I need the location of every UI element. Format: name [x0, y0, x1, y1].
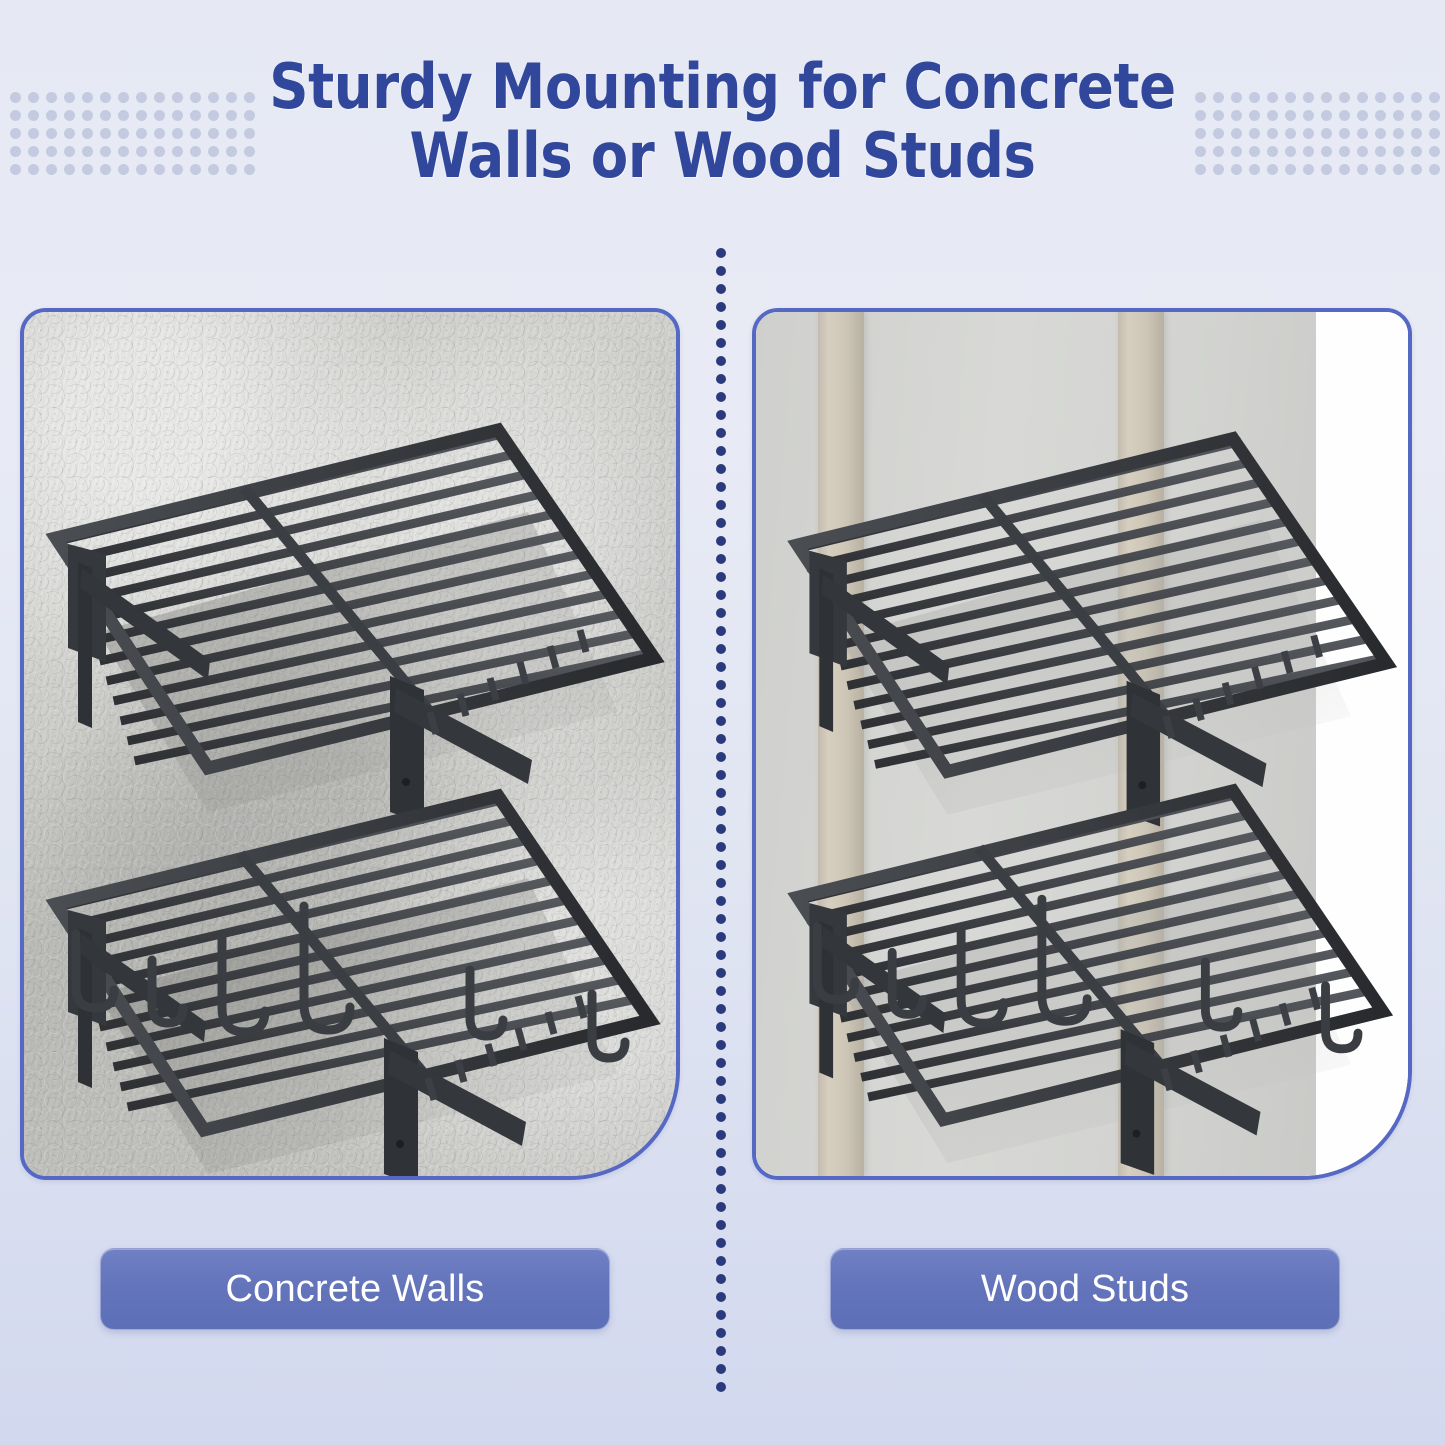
- divider-dot: [716, 878, 726, 888]
- divider-dot: [716, 1040, 726, 1050]
- dot: [64, 164, 75, 175]
- divider-dot: [716, 806, 726, 816]
- label-wood-studs-text: Wood Studs: [981, 1268, 1189, 1311]
- divider-dot: [716, 734, 726, 744]
- divider-dot: [716, 482, 726, 492]
- divider-dot: [716, 1382, 726, 1392]
- divider-dot: [716, 626, 726, 636]
- dot: [1375, 92, 1386, 103]
- divider-dot: [716, 446, 726, 456]
- divider-dot: [716, 716, 726, 726]
- dot: [28, 92, 39, 103]
- dot: [1393, 128, 1404, 139]
- dot: [10, 110, 21, 121]
- divider-dot: [716, 932, 726, 942]
- divider-dot: [716, 770, 726, 780]
- dot: [1375, 110, 1386, 121]
- dot: [10, 164, 21, 175]
- divider-dot: [716, 284, 726, 294]
- dot: [1429, 128, 1440, 139]
- divider-dot: [716, 824, 726, 834]
- divider-dot: [716, 896, 726, 906]
- divider-dot: [716, 302, 726, 312]
- dot: [46, 110, 57, 121]
- dot: [1393, 92, 1404, 103]
- dot: [1411, 110, 1422, 121]
- dot: [1375, 128, 1386, 139]
- divider-dot: [716, 266, 726, 276]
- page-title: Sturdy Mounting for Concrete Walls or Wo…: [87, 52, 1359, 191]
- divider-dot: [716, 320, 726, 330]
- divider-dot: [716, 788, 726, 798]
- divider-dot: [716, 1274, 726, 1284]
- divider-dot: [716, 1310, 726, 1320]
- divider-dot: [716, 986, 726, 996]
- dot: [10, 146, 21, 157]
- dot: [46, 164, 57, 175]
- dot: [1411, 92, 1422, 103]
- dot: [64, 128, 75, 139]
- dot: [10, 92, 21, 103]
- divider-dot: [716, 1328, 726, 1338]
- dot: [1375, 146, 1386, 157]
- divider-dot: [716, 590, 726, 600]
- divider-dot: [716, 662, 726, 672]
- dot: [28, 128, 39, 139]
- dot: [10, 128, 21, 139]
- divider-dot: [716, 1112, 726, 1122]
- dot: [1375, 164, 1386, 175]
- divider-dot: [716, 572, 726, 582]
- dot: [1411, 164, 1422, 175]
- divider-dot: [716, 464, 726, 474]
- divider-dot: [716, 968, 726, 978]
- divider-dot: [716, 248, 726, 258]
- dot: [1429, 164, 1440, 175]
- divider-dot: [716, 1004, 726, 1014]
- dot: [64, 146, 75, 157]
- page-title-line-2: Walls or Wood Studs: [87, 121, 1359, 190]
- dot: [1411, 146, 1422, 157]
- divider-dot: [716, 698, 726, 708]
- panel-wood-studs: [752, 308, 1412, 1180]
- divider-dot: [716, 950, 726, 960]
- divider-dot: [716, 1148, 726, 1158]
- dot: [28, 146, 39, 157]
- divider-dot: [716, 1022, 726, 1032]
- divider-dot: [716, 356, 726, 366]
- divider-dot: [716, 554, 726, 564]
- divider-dot: [716, 842, 726, 852]
- divider-dot: [716, 1364, 726, 1374]
- divider-dot: [716, 374, 726, 384]
- dot: [1393, 110, 1404, 121]
- label-concrete-walls[interactable]: Concrete Walls: [100, 1248, 610, 1330]
- shelf-upper-studs: [774, 418, 1412, 788]
- label-concrete-walls-text: Concrete Walls: [225, 1268, 484, 1311]
- dot: [1411, 128, 1422, 139]
- divider-dot: [716, 752, 726, 762]
- divider-dot: [716, 914, 726, 924]
- divider-dot: [716, 680, 726, 690]
- divider-dot: [716, 860, 726, 870]
- dot: [46, 146, 57, 157]
- vertical-dotted-divider: [716, 248, 726, 1393]
- dot: [46, 92, 57, 103]
- divider-dot: [716, 1076, 726, 1086]
- dot: [1429, 146, 1440, 157]
- divider-dot: [716, 500, 726, 510]
- shelf-lower-concrete: [32, 782, 680, 1180]
- panel-concrete-walls: [20, 308, 680, 1180]
- divider-dot: [716, 608, 726, 618]
- divider-dot: [716, 644, 726, 654]
- label-wood-studs[interactable]: Wood Studs: [830, 1248, 1340, 1330]
- dot: [1429, 92, 1440, 103]
- divider-dot: [716, 1130, 726, 1140]
- divider-dot: [716, 1346, 726, 1356]
- dot: [1393, 146, 1404, 157]
- dot: [1429, 110, 1440, 121]
- divider-dot: [716, 1256, 726, 1266]
- divider-dot: [716, 536, 726, 546]
- dot: [64, 92, 75, 103]
- divider-dot: [716, 1166, 726, 1176]
- divider-dot: [716, 518, 726, 528]
- dot: [1393, 164, 1404, 175]
- divider-dot: [716, 1094, 726, 1104]
- divider-dot: [716, 1220, 726, 1230]
- divider-dot: [716, 338, 726, 348]
- divider-dot: [716, 392, 726, 402]
- page-title-line-1: Sturdy Mounting for Concrete: [87, 52, 1359, 121]
- divider-dot: [716, 1238, 726, 1248]
- dot: [28, 110, 39, 121]
- divider-dot: [716, 428, 726, 438]
- divider-dot: [716, 410, 726, 420]
- divider-dot: [716, 1184, 726, 1194]
- divider-dot: [716, 1202, 726, 1212]
- shelf-lower-studs: [774, 774, 1412, 1174]
- dot: [28, 164, 39, 175]
- shelf-upper-concrete: [32, 412, 680, 782]
- dot: [46, 128, 57, 139]
- divider-dot: [716, 1058, 726, 1068]
- divider-dot: [716, 1292, 726, 1302]
- dot: [64, 110, 75, 121]
